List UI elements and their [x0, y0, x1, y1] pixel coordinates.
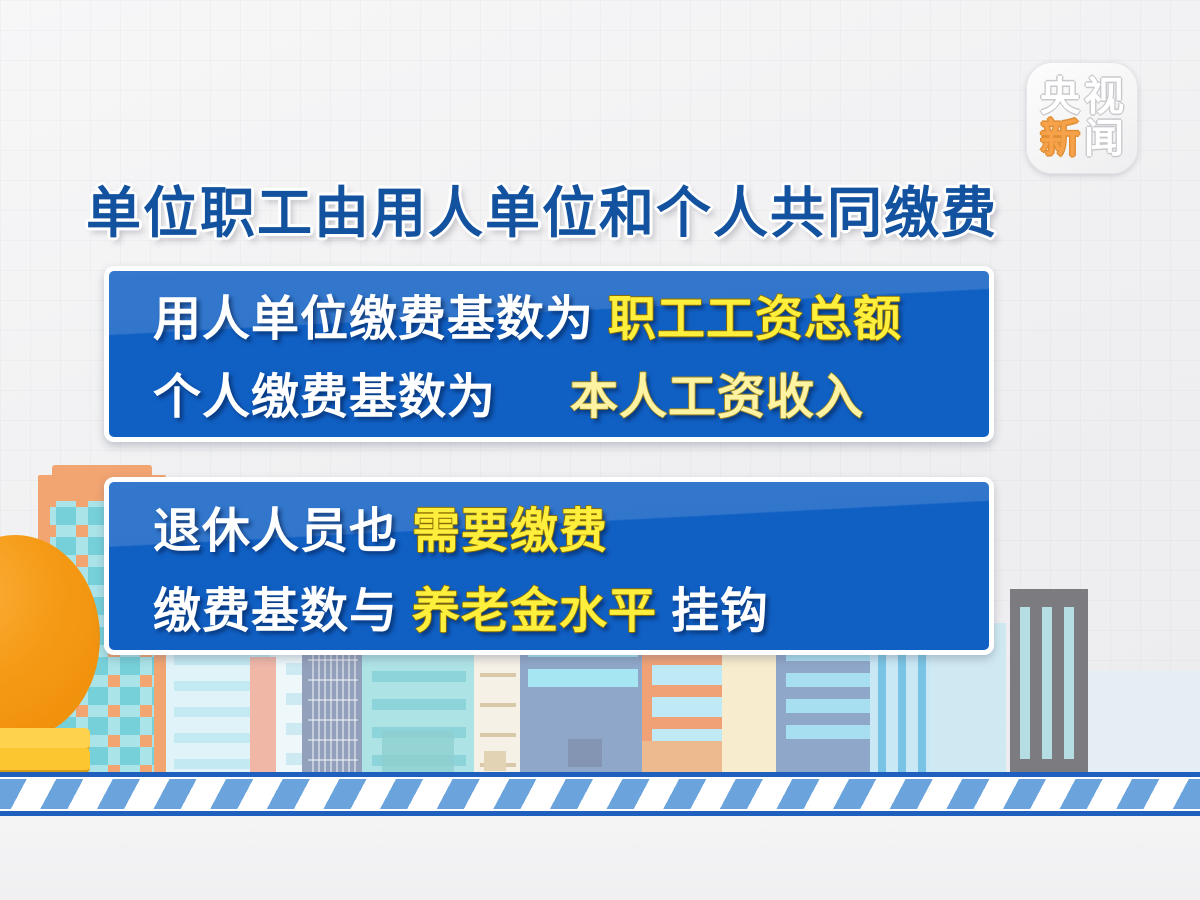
panel-2-line-2-segment-3: 挂钩: [671, 588, 769, 636]
panel-2-line-2-segment-1: 缴费基数与: [153, 588, 398, 636]
caption-panel-1: 用人单位缴费基数为 职工工资总额 个人缴费基数为 本人工资收入: [104, 266, 994, 442]
logo-char-shi: 视: [1082, 76, 1126, 118]
infographic-stage: 单位职工由用人单位和个人共同缴费 用人单位缴费基数为 职工工资总额 个人缴费基数…: [0, 0, 1200, 900]
panel-1-line-1-segment-1: 用人单位缴费基数为: [153, 296, 594, 344]
coin-stack-bottom: [0, 748, 90, 773]
page-title: 单位职工由用人单位和个人共同缴费: [86, 168, 998, 248]
caption-panel-2: 退休人员也 需要缴费 缴费基数与 养老金水平 挂钩: [104, 477, 994, 655]
panel-1-line-2-highlight: 本人工资收入: [570, 374, 864, 422]
road-stripes: [0, 777, 1200, 811]
striped-road-band: [0, 772, 1200, 816]
logo-char-yang: 央: [1038, 76, 1082, 118]
panel-2-line-1: 退休人员也 需要缴费: [109, 508, 989, 556]
panel-1-line-2-segment-1: 个人缴费基数为: [153, 374, 496, 422]
logo-char-wen: 闻: [1082, 118, 1126, 160]
road-foreground-floor: [0, 816, 1200, 900]
panel-2-line-1-highlight: 需要缴费: [412, 508, 608, 556]
panel-1-line-1-highlight: 职工工资总额: [608, 296, 902, 344]
panel-2-line-2: 缴费基数与 养老金水平 挂钩: [109, 588, 989, 636]
building-dark-gray-tower: [1010, 589, 1088, 775]
logo-char-xin: 新: [1038, 118, 1082, 160]
logo-character-grid: 央 视 新 闻: [1038, 76, 1126, 160]
panel-1-line-2: 个人缴费基数为 本人工资收入: [109, 374, 989, 422]
cctv-news-logo: 央 视 新 闻: [1026, 62, 1138, 174]
building-far-right-filler: [1088, 671, 1200, 775]
panel-1-line-1: 用人单位缴费基数为 职工工资总额: [109, 296, 989, 344]
panel-2-line-2-highlight: 养老金水平: [412, 588, 657, 636]
panel-2-line-1-segment-1: 退休人员也: [153, 508, 398, 556]
